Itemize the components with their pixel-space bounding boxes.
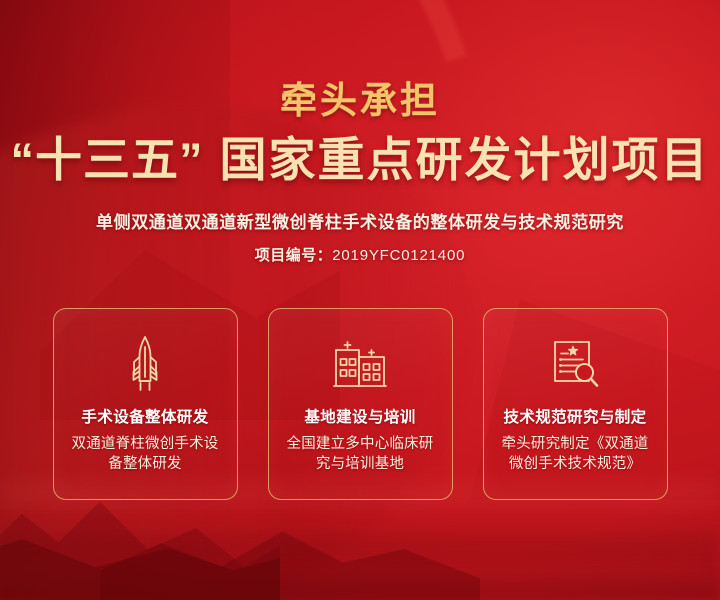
feature-card-body: 牵头研究制定《双通道微创手术技术规范》	[495, 434, 655, 475]
poster-banner: 牵头承担 “十三五”国家重点研发计划项目 单侧双通道双通道新型微创脊柱手术设备的…	[0, 0, 720, 600]
headline-main: “十三五”国家重点研发计划项目	[0, 135, 720, 186]
feature-card-base-training[interactable]: 基地建设与培训 全国建立多中心临床研究与培训基地	[268, 308, 453, 500]
feature-card-body: 双通道脊柱微创手术设备整体研发	[65, 434, 225, 475]
feature-card-body: 全国建立多中心临床研究与培训基地	[280, 434, 440, 475]
document-search-icon	[549, 335, 601, 393]
headline-eyebrow: 牵头承担	[0, 82, 720, 121]
headline-program-name: 国家重点研发计划项目	[220, 133, 710, 186]
rocket-icon	[124, 335, 166, 393]
feature-card-standards[interactable]: 技术规范研究与制定 牵头研究制定《双通道微创手术技术规范》	[483, 308, 668, 500]
project-number-label: 项目编号：	[255, 247, 333, 264]
headline-quoted-term: “十三五”	[11, 133, 204, 186]
feature-card-title: 手术设备整体研发	[81, 405, 208, 427]
poster-content: 牵头承担 “十三五”国家重点研发计划项目 单侧双通道双通道新型微创脊柱手术设备的…	[0, 0, 720, 600]
hospital-building-icon	[333, 335, 387, 393]
feature-card-list: 手术设备整体研发 双通道脊柱微创手术设备整体研发	[53, 308, 668, 500]
feature-card-title: 基地建设与培训	[304, 405, 415, 427]
project-subtitle: 单侧双通道双通道新型微创脊柱手术设备的整体研发与技术规范研究	[96, 208, 624, 233]
project-number-value: 2019YFC0121400	[332, 247, 465, 264]
feature-card-equipment-rnd[interactable]: 手术设备整体研发 双通道脊柱微创手术设备整体研发	[53, 308, 238, 500]
project-number: 项目编号：2019YFC0121400	[255, 244, 465, 265]
title-block: 牵头承担 “十三五”国家重点研发计划项目	[0, 0, 720, 186]
feature-card-title: 技术规范研究与制定	[503, 405, 646, 427]
